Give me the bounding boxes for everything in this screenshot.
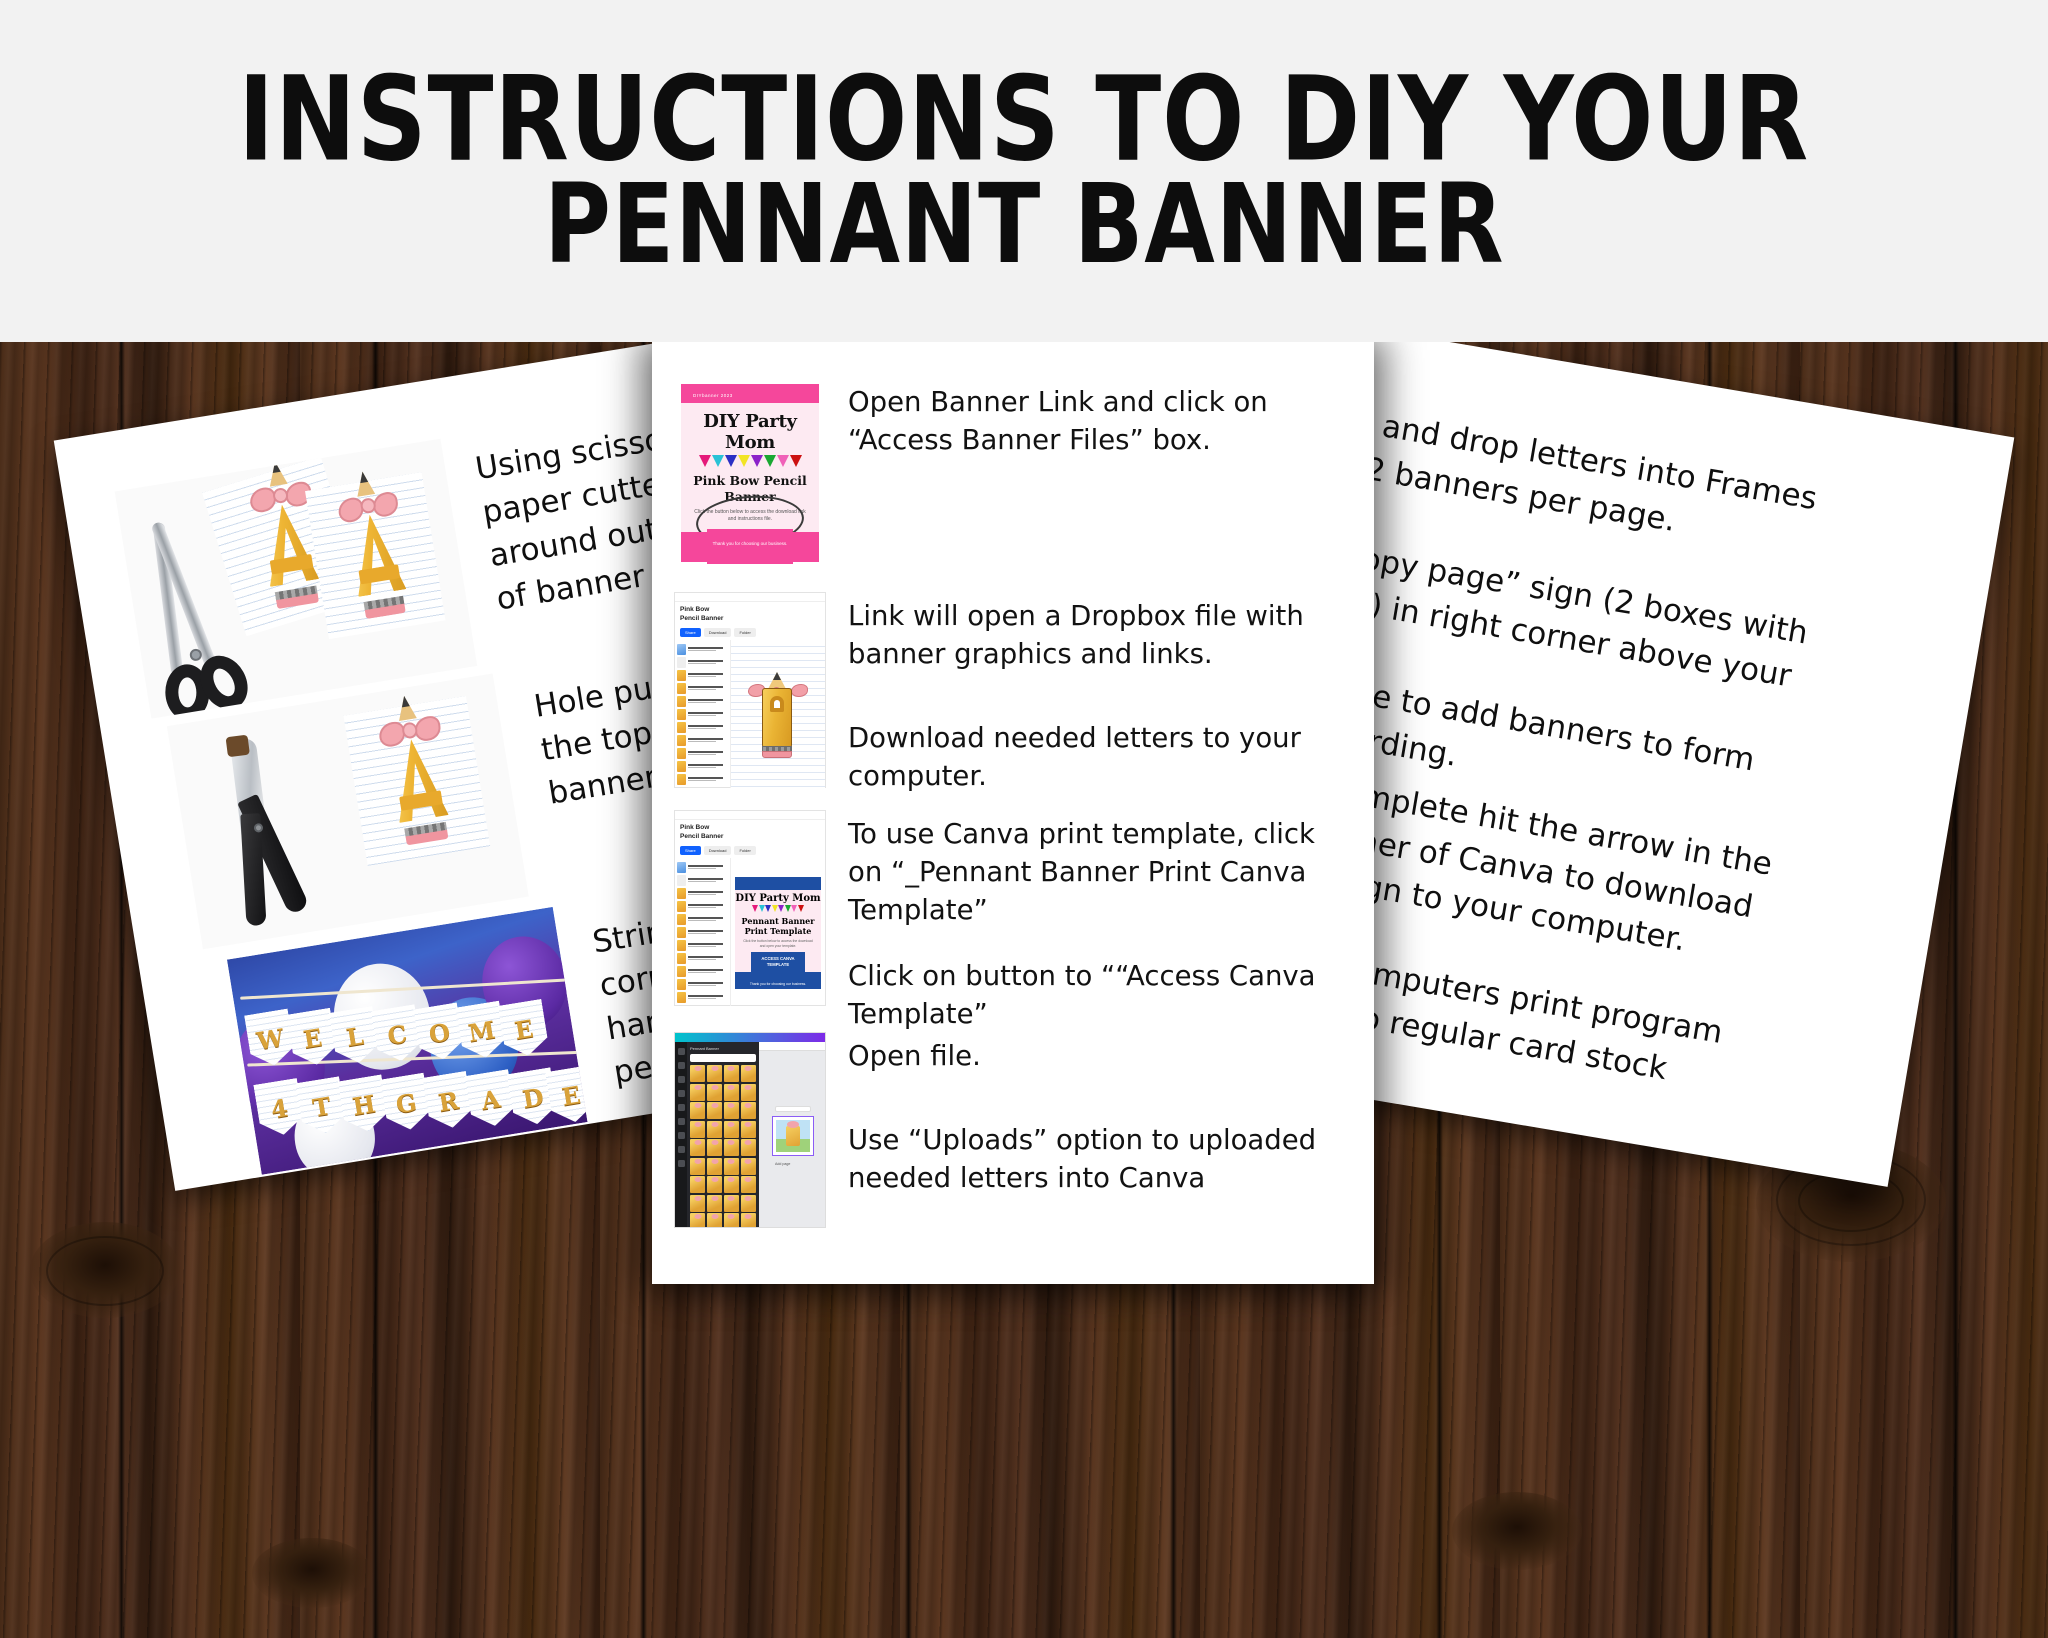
list-item [675,682,730,695]
page-title-line-2: PENNANT BANNER [544,168,1504,284]
pencil-letter-p-graphic [748,672,808,758]
list-item [675,747,730,760]
list-item [675,773,730,786]
canva-selected-element[interactable] [772,1116,814,1156]
list-item [675,900,730,913]
dropbox-file-list[interactable] [675,640,731,788]
canva-uploads-panel[interactable]: Pennant Banner [687,1042,759,1228]
list-item [675,708,730,721]
dropbox-template-title-line1: Pink Bow [680,824,825,833]
canva-uploads-grid[interactable] [690,1065,756,1228]
photo-hole-punch [167,673,529,949]
center-step-5: Click on button to ““Access Canva Templa… [848,958,1356,1034]
template-card-subtitle-1: Pennant Banner [735,916,821,926]
canva-side-rail[interactable] [675,1042,687,1228]
list-item [675,669,730,682]
center-instruction-page: DIYbanner 2023 DIY Party Mom Pink Bow Pe… [652,332,1374,1284]
dropbox-share-button[interactable]: Share [680,846,701,855]
canva-float-toolbar[interactable] [775,1106,811,1112]
access-sheet-footer-text: Thank you for choosing our business. [681,541,819,546]
center-row-2: Pink Bow Pencil Banner Share Download Fo… [674,592,1356,802]
bunting-flags-icon [681,455,819,467]
dropbox-template-preview: DIY Party Mom Pennant Banner Print Te [731,858,825,1006]
thumbnail-access-banner-sheet: DIYbanner 2023 DIY Party Mom Pink Bow Pe… [674,378,826,570]
center-step-2: Link will open a Dropbox file with banne… [848,598,1356,674]
access-canva-template-button[interactable]: ACCESS CANVA TEMPLATE [751,952,805,973]
dropbox-template-title-line2: Pencil Banner [680,833,825,842]
list-item [675,952,730,965]
list-item [675,861,730,874]
list-item [675,734,730,747]
list-item [675,978,730,991]
bunting-flags-icon [735,905,821,912]
list-item [675,926,730,939]
canva-panel-title: Pennant Banner [690,1046,756,1051]
list-item [675,656,730,669]
list-item [675,913,730,926]
header-banner: INSTRUCTIONS TO DIY YOUR PENNANT BANNER [0,0,2048,342]
center-step-3: Download needed letters to your computer… [848,720,1356,796]
dropbox-download-button[interactable]: Download [704,846,732,855]
dropbox-title-line2: Pencil Banner [680,615,825,624]
access-sheet-subtitle-1: Pink Bow Pencil [681,473,819,489]
list-item [675,991,730,1004]
list-item [675,874,730,887]
center-step-4: To use Canva print template, click on “_… [848,816,1356,930]
dropbox-download-button[interactable]: Download [704,628,732,637]
canva-search-input[interactable] [690,1054,756,1062]
dropbox-file-preview [731,640,825,788]
center-step-1: Open Banner Link and click on “Access Ba… [826,378,1356,460]
thumbnail-dropbox-letters: Pink Bow Pencil Banner Share Download Fo… [674,592,826,788]
center-row-3: Pink Bow Pencil Banner Share Download Fo… [674,810,1356,1022]
dropbox-file-list[interactable] [675,858,731,1006]
canva-canvas-area[interactable]: Add page [759,1042,825,1228]
template-card-subtitle-2: Print Template [735,926,821,936]
access-canva-template-button-line2: TEMPLATE [751,962,805,968]
canva-canvas-label: Add page [775,1162,790,1166]
list-item [675,939,730,952]
dropbox-share-button[interactable]: Share [680,628,701,637]
center-row-4: Pennant Banner [674,1032,1356,1232]
dropbox-title-line1: Pink Bow [680,606,825,615]
center-step-7: Use “Uploads” option to uploaded needed … [848,1122,1356,1198]
access-sheet-topbar-text: DIYbanner 2023 [693,393,733,398]
thumbnail-canva-editor: Pennant Banner [674,1032,826,1228]
access-sheet-brand: DIY Party Mom [681,411,819,453]
template-card-footer-text: Thank you for choosing our business. [735,982,821,986]
template-card-fine-print: Click the button below to access the dow… [735,939,821,948]
center-step-6: Open file. [848,1038,1356,1076]
template-card-brand: DIY Party Mom [735,893,821,904]
center-row-1: DIYbanner 2023 DIY Party Mom Pink Bow Pe… [674,378,1356,584]
dropbox-folder-button[interactable]: Folder [734,846,755,855]
canva-titlebar [675,1033,825,1042]
photo-scissors-cutting [115,439,478,719]
center-steps-4-5: To use Canva print template, click on “_… [826,810,1356,1034]
list-item [675,760,730,773]
center-steps-2-3: Link will open a Dropbox file with banne… [826,592,1356,796]
list-item [675,643,730,656]
list-item [675,695,730,708]
thumbnail-dropbox-canva-template: Pink Bow Pencil Banner Share Download Fo… [674,810,826,1006]
center-steps-6-7: Open file. Use “Uploads” option to uploa… [826,1032,1356,1198]
canva-toolbar[interactable] [759,1042,825,1051]
list-item [675,887,730,900]
list-item [675,965,730,978]
dropbox-folder-button[interactable]: Folder [734,628,755,637]
list-item [675,721,730,734]
hole-punch-icon [210,730,322,931]
